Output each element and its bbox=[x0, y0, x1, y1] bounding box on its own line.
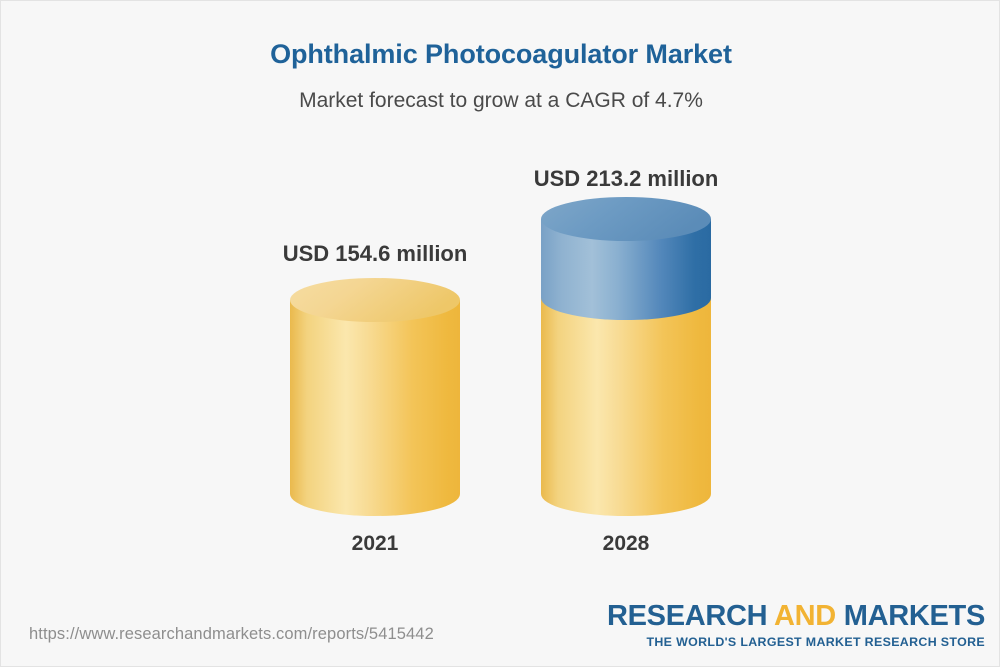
brand-name-part1: RESEARCH bbox=[607, 600, 774, 632]
infographic-canvas: Ophthalmic Photocoagulator Market Market… bbox=[0, 0, 1000, 667]
cylinder-bar-2028[interactable] bbox=[541, 201, 711, 518]
cylinder-bar-2021[interactable] bbox=[290, 282, 460, 518]
brand-name: RESEARCH AND MARKETS bbox=[607, 602, 985, 631]
brand-tagline: THE WORLD'S LARGEST MARKET RESEARCH STOR… bbox=[607, 636, 985, 648]
category-label-2028: 2028 bbox=[516, 532, 736, 556]
brand-logo: RESEARCH AND MARKETS THE WORLD'S LARGEST… bbox=[607, 602, 985, 648]
source-url[interactable]: https://www.researchandmarkets.com/repor… bbox=[29, 625, 434, 644]
brand-name-part2: MARKETS bbox=[836, 600, 985, 632]
chart-plot-area: USD 154.6 million bbox=[1, 1, 1000, 667]
brand-name-and: AND bbox=[774, 600, 836, 632]
data-label-2021: USD 154.6 million bbox=[215, 241, 535, 267]
category-label-2021: 2021 bbox=[265, 532, 485, 556]
data-label-2028: USD 213.2 million bbox=[466, 166, 786, 192]
